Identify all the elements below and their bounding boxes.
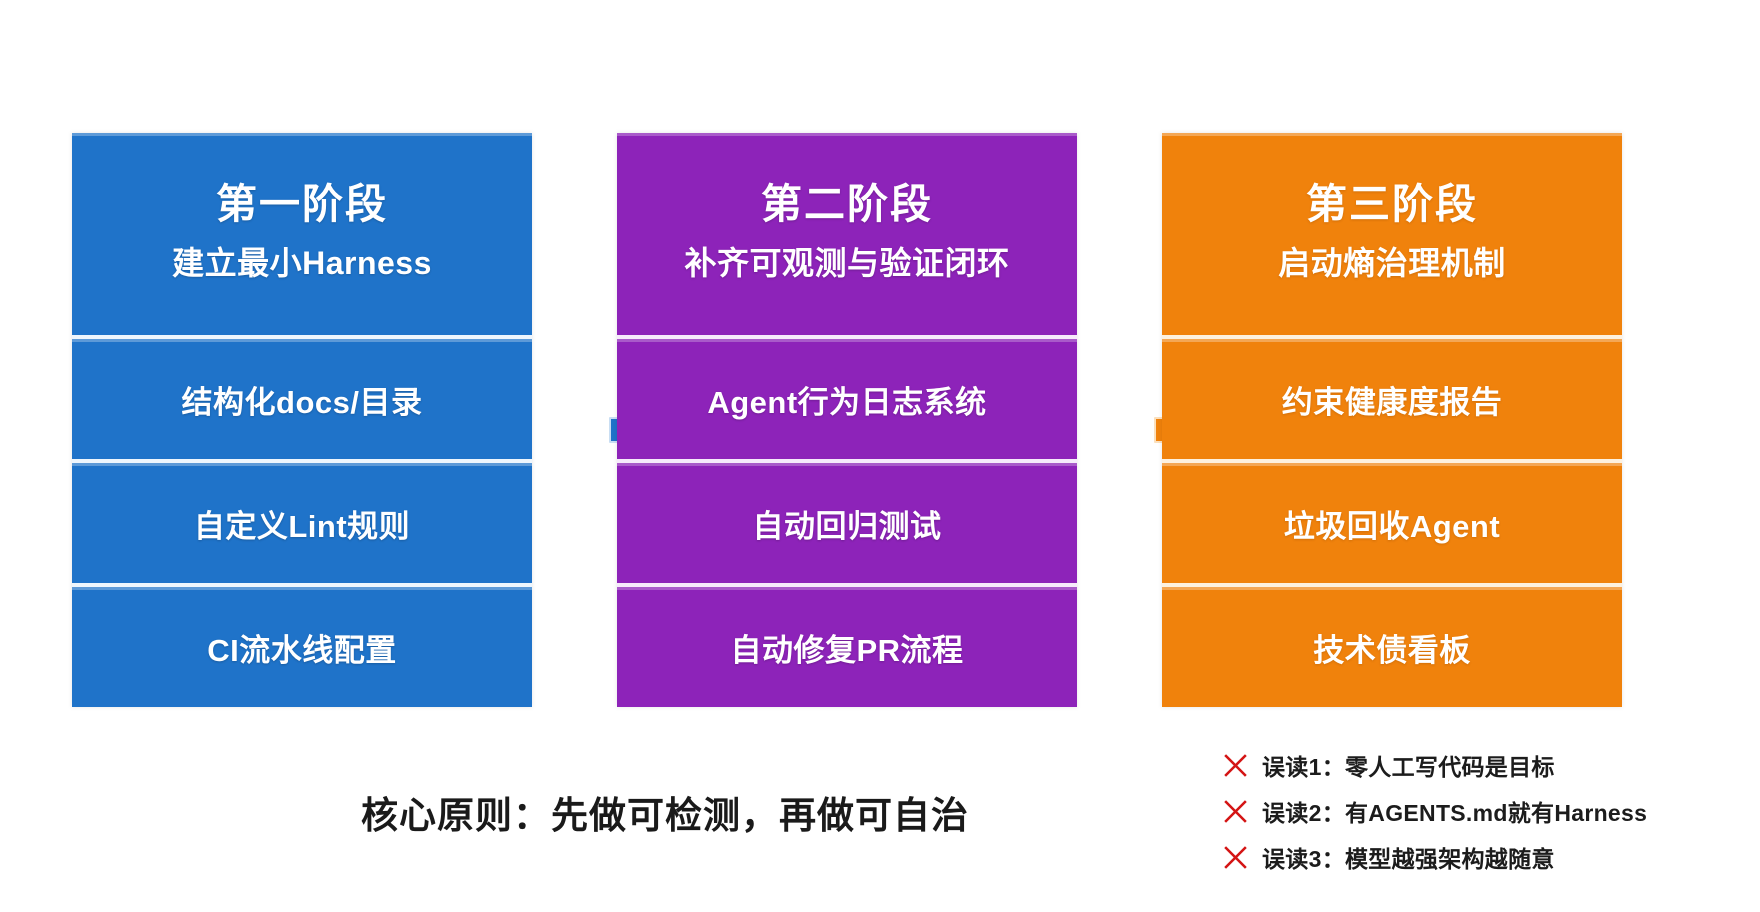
phase-column-1: 第一阶段 建立最小Harness 结构化docs/目录 自定义Lint规则 CI… [72, 133, 532, 707]
misconception-label: 误读1：零人工写代码是目标 [1262, 748, 1555, 782]
x-mark-icon [1222, 752, 1249, 779]
phase-column-3: 第三阶段 启动熵治理机制 约束健康度报告 垃圾回收Agent 技术债看板 [1162, 133, 1622, 707]
phase-3-header: 第三阶段 启动熵治理机制 [1162, 133, 1622, 335]
phase-1-header: 第一阶段 建立最小Harness [72, 133, 532, 335]
phase-2-header: 第二阶段 补齐可观测与验证闭环 [617, 133, 1077, 335]
phase-3-subtitle: 启动熵治理机制 [1278, 244, 1506, 282]
phase-1-row-2: 自定义Lint规则 [72, 463, 532, 583]
phase-1-subtitle: 建立最小Harness [172, 244, 432, 282]
misconception-item-2: 误读2：有AGENTS.md就有Harness [1222, 794, 1647, 828]
misconception-item-1: 误读1：零人工写代码是目标 [1222, 748, 1647, 782]
misconception-item-3: 误读3：模型越强架构越随意 [1222, 840, 1647, 874]
diagram-canvas: 第一阶段 建立最小Harness 结构化docs/目录 自定义Lint规则 CI… [0, 0, 1760, 912]
misconception-label: 误读3：模型越强架构越随意 [1262, 840, 1555, 874]
phase-3-row-3: 技术债看板 [1162, 587, 1622, 707]
phase-3-title: 第三阶段 [1306, 181, 1478, 228]
phase-2-title: 第二阶段 [761, 181, 933, 228]
phase-column-2: 第二阶段 补齐可观测与验证闭环 Agent行为日志系统 自动回归测试 自动修复P… [617, 133, 1077, 707]
misconception-label: 误读2：有AGENTS.md就有Harness [1262, 794, 1647, 828]
phase-2-row-1: Agent行为日志系统 [617, 339, 1077, 459]
x-mark-icon [1222, 798, 1249, 825]
phase-2-subtitle: 补齐可观测与验证闭环 [684, 244, 1009, 282]
phase-3-row-1: 约束健康度报告 [1162, 339, 1622, 459]
phase-1-row-3: CI流水线配置 [72, 587, 532, 707]
x-mark-icon [1222, 844, 1249, 871]
phase-2-row-2: 自动回归测试 [617, 463, 1077, 583]
misconception-list: 误读1：零人工写代码是目标 误读2：有AGENTS.md就有Harness 误读… [1222, 748, 1647, 874]
phase-1-row-1: 结构化docs/目录 [72, 339, 532, 459]
phase-3-row-2: 垃圾回收Agent [1162, 463, 1622, 583]
phase-2-row-3: 自动修复PR流程 [617, 587, 1077, 707]
phase-1-title: 第一阶段 [216, 181, 388, 228]
